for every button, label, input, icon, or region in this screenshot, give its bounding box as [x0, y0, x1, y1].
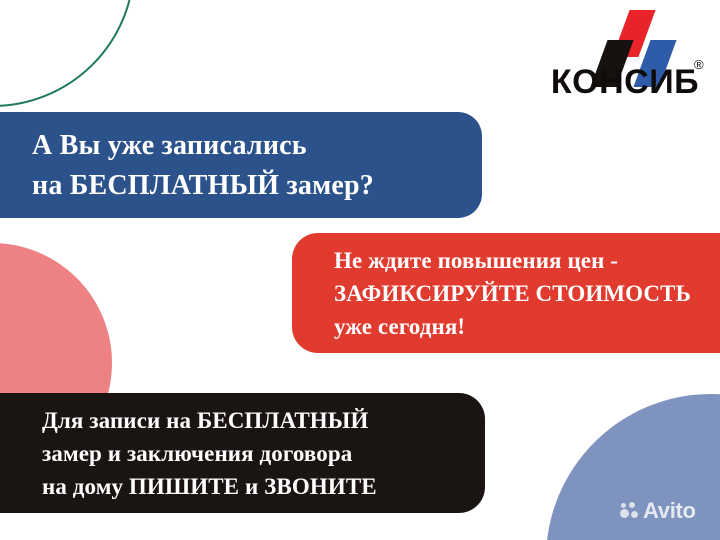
call-to-action-banner: Для записи на БЕСПЛАТНЫЙ замер и заключе…	[0, 393, 485, 513]
avito-wordmark: Avito	[643, 500, 696, 522]
trademark-symbol: ®	[694, 58, 704, 71]
avito-dots-icon	[620, 501, 640, 521]
offer-line-3: уже сегодня!	[334, 310, 720, 343]
offer-line-2: ЗАФИКСИРУЙТЕ СТОИМОСТЬ	[334, 277, 720, 310]
cta-line-2: замер и заключения договора	[42, 437, 485, 470]
offer-banner: Не ждите повышения цен - ЗАФИКСИРУЙТЕ СТ…	[292, 233, 720, 353]
headline-banner: А Вы уже записались на БЕСПЛАТНЫЙ замер?	[0, 112, 482, 218]
decorative-circle-green-outline	[0, 0, 135, 107]
offer-line-1: Не ждите повышения цен -	[334, 244, 720, 277]
logo-mark	[536, 8, 714, 70]
brand-name: КОНСИБ	[536, 65, 714, 99]
brand-logo: КОНСИБ ®	[536, 8, 714, 106]
avito-watermark: Avito	[620, 500, 696, 522]
headline-line-1: А Вы уже записались	[32, 126, 482, 166]
headline-line-2: на БЕСПЛАТНЫЙ замер?	[32, 166, 482, 206]
advertisement-canvas: КОНСИБ ® А Вы уже записались на БЕСПЛАТН…	[0, 0, 720, 540]
cta-line-3: на дому ПИШИТЕ и ЗВОНИТЕ	[42, 470, 485, 503]
cta-line-1: Для записи на БЕСПЛАТНЫЙ	[42, 404, 485, 437]
